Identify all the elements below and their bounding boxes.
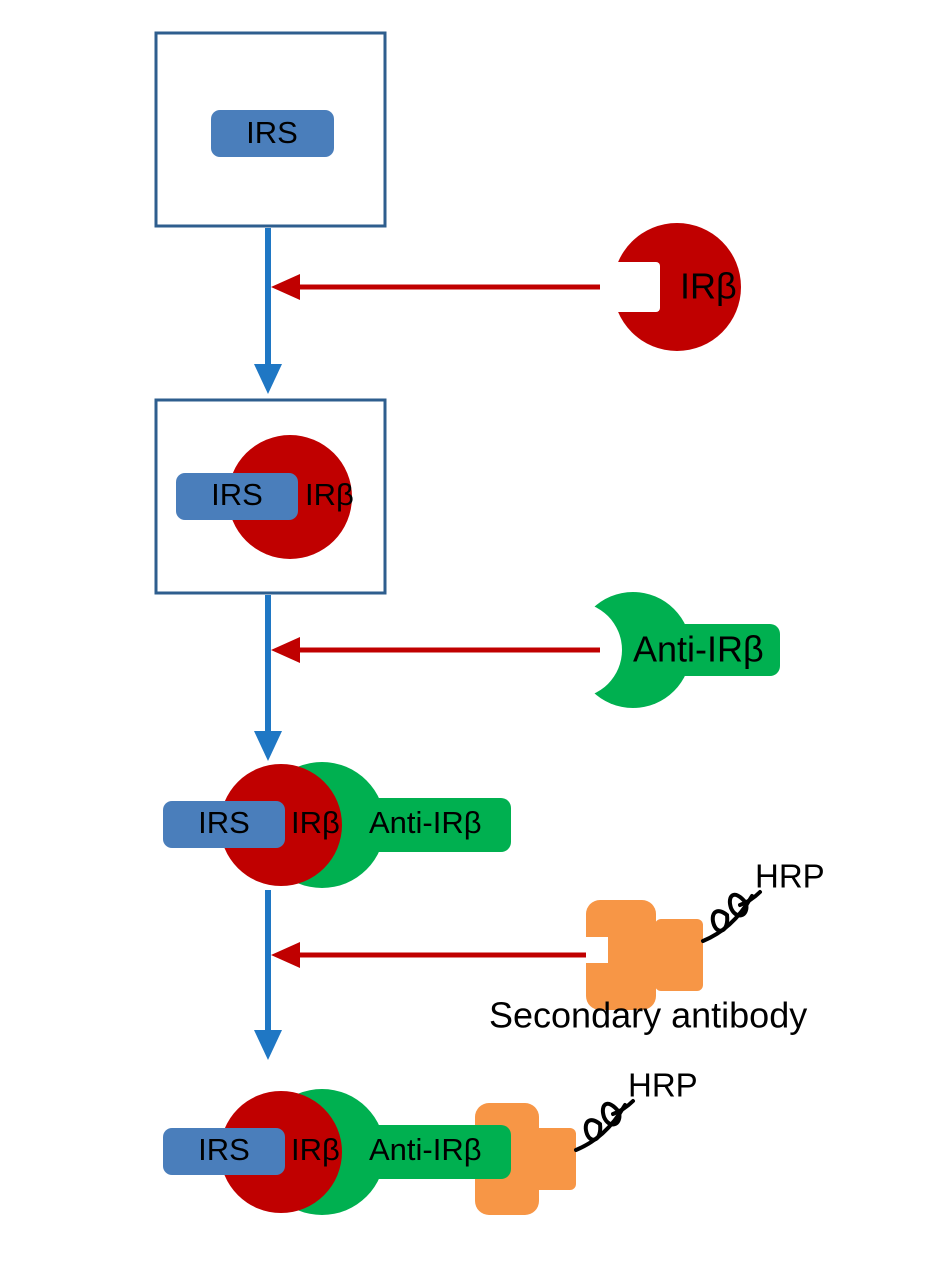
flow-arrow-2 [254, 595, 282, 761]
step-2-group: IRS IRβ [156, 400, 385, 593]
secondary-antibody-fork [586, 900, 656, 1010]
hrp-label-bound: HRP [628, 1067, 698, 1104]
step-4-group: IRS IRβ Anti-IRβ HRP [163, 1067, 698, 1215]
anti-ir-beta-label-step-3: Anti-IRβ [369, 805, 482, 840]
ir-beta-reagent-label: IRβ [680, 266, 737, 307]
reagent-anti-ir-beta: Anti-IRβ [575, 592, 780, 708]
hrp-conjugate-bound [576, 1101, 633, 1150]
ir-beta-label-step-4: IRβ [291, 1132, 340, 1167]
secondary-antibody-stem [655, 919, 703, 991]
reagent-arrow-secondary-antibody [271, 942, 586, 968]
reagent-secondary-antibody: HRP Secondary antibody [489, 858, 825, 1036]
assay-workflow-diagram: IRS IRβ IRS IRβ [0, 0, 934, 1272]
step-1-group: IRS [156, 33, 385, 226]
anti-ir-beta-label-step-4: Anti-IRβ [369, 1132, 482, 1167]
hrp-label-free: HRP [755, 858, 825, 895]
flow-arrow-3 [254, 890, 282, 1060]
reagent-arrow-anti-ir-beta [271, 637, 600, 663]
hrp-conjugate-free [703, 892, 760, 941]
irs-label-step-3: IRS [198, 805, 250, 840]
irs-label-step-2: IRS [211, 477, 263, 512]
irs-label-step-1: IRS [246, 115, 298, 150]
reagent-ir-beta: IRβ [613, 223, 741, 351]
secondary-antibody-caption: Secondary antibody [489, 995, 807, 1036]
ir-beta-label-step-2: IRβ [305, 477, 354, 512]
flow-arrow-1 [254, 228, 282, 394]
irs-label-step-4: IRS [198, 1132, 250, 1167]
anti-ir-beta-reagent-label: Anti-IRβ [633, 629, 764, 670]
reagent-arrow-ir-beta [271, 274, 600, 300]
ir-beta-label-step-3: IRβ [291, 805, 340, 840]
diagram-canvas: IRS IRβ IRS IRβ [0, 0, 934, 1272]
step-3-group: IRS IRβ Anti-IRβ [163, 762, 511, 888]
